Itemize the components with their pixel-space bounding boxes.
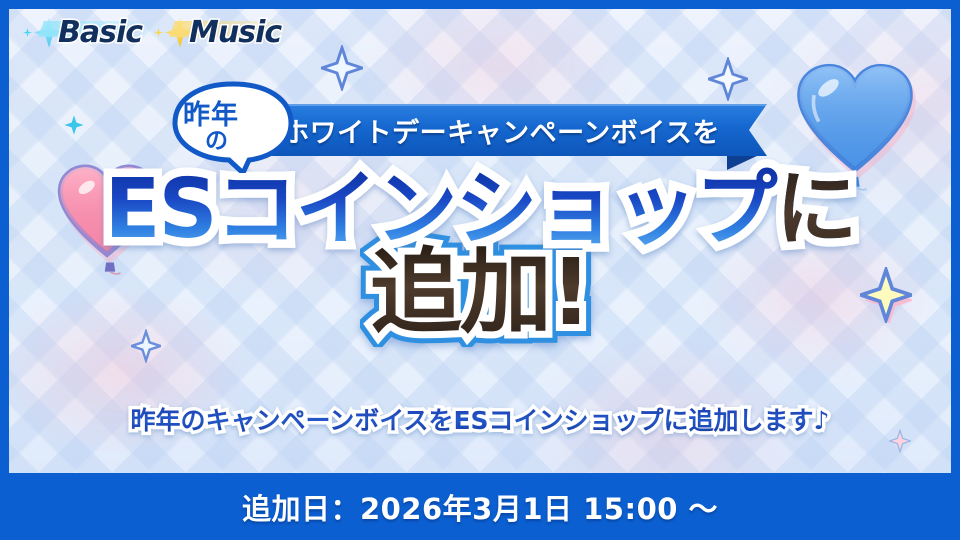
speech-bubble: 昨年 の: [169, 81, 297, 173]
logo-basic: Basic: [23, 15, 142, 50]
speech-bubble-text: 昨年 の: [169, 81, 297, 173]
logo-basic-label: Basic: [58, 15, 142, 50]
headline-group: ESコインショップに ESコインショップに 追加! 追加! 追加!: [9, 169, 951, 339]
logo-group: Basic Music: [23, 15, 281, 50]
content-layer: Basic Music ホワイトデーキャンペーンボイスを: [9, 9, 951, 473]
headline-add-label: 追加!: [370, 239, 590, 346]
logo-music-label: Music: [189, 15, 281, 50]
footer-date-label: 追加日：2026年3月1日 15:00 〜: [242, 486, 718, 528]
speech-bubble-line2: の: [205, 121, 228, 155]
campaign-banner: Basic Music ホワイトデーキャンペーンボイスを: [0, 0, 960, 540]
subtitle-label: 昨年のキャンペーンボイスをESコインショップに追加します♪: [130, 406, 829, 435]
logo-music: Music: [154, 15, 281, 50]
headline-particle-ni: に: [776, 162, 856, 257]
footer-bar: 追加日：2026年3月1日 15:00 〜: [0, 473, 960, 540]
headline-line-2: 追加! 追加! 追加!: [9, 247, 951, 339]
basic-sparkle-icon: [23, 28, 32, 37]
subtitle-line: 昨年のキャンペーンボイスをESコインショップに追加します♪ 昨年のキャンペーンボ…: [9, 401, 951, 437]
banner-stage: Basic Music ホワイトデーキャンペーンボイスを: [9, 9, 951, 473]
